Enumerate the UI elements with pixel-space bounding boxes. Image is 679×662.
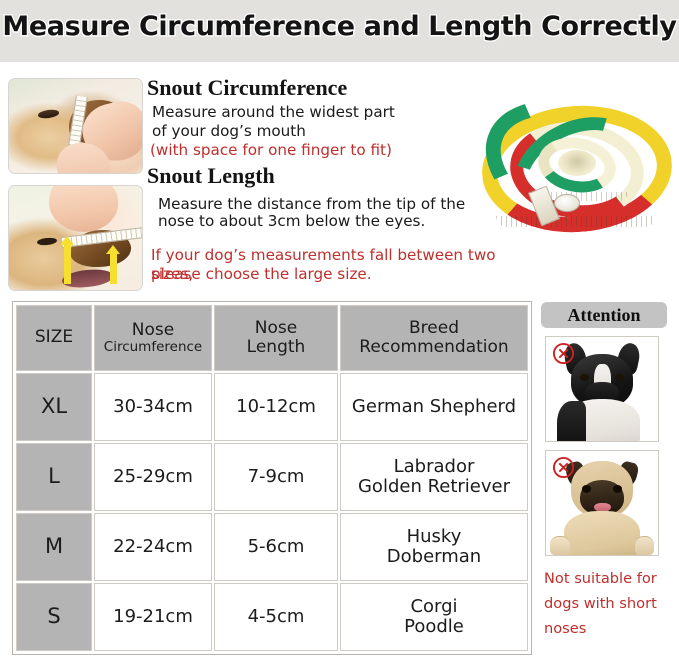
header-line-sub: Recommendation [359, 338, 508, 357]
breed-line-1: Husky [407, 527, 462, 547]
snout-length-photo [8, 185, 143, 291]
attention-badge-label: Attention [568, 305, 641, 326]
cell-nose-circumference: 25-29cm [94, 443, 212, 511]
circumference-line-2: of your dog’s mouth [152, 122, 306, 141]
tape-coil-core [558, 150, 596, 176]
dog-eye-right [613, 485, 622, 492]
cell-nose-length: 4-5cm [214, 583, 338, 651]
circumference-note-red: (with space for one finger to fit) [150, 141, 392, 160]
cell-nose-circumference: 30-34cm [94, 373, 212, 441]
dog-eye-right [615, 374, 624, 380]
cell-breed-recommendation: Husky Doberman [340, 513, 528, 581]
length-line-2: nose to about 3cm below the eyes. [158, 212, 425, 231]
dog-paw-right [635, 536, 654, 555]
heading-snout-length: Snout Length [147, 164, 275, 189]
dog-eye-left [580, 374, 589, 380]
size-chart-table: SIZE Nose Circumference Nose Length Bree… [12, 301, 532, 655]
tape-measure-illustration [482, 100, 672, 240]
snout-circumference-photo [8, 78, 143, 174]
cell-nose-circumference: 19-21cm [94, 583, 212, 651]
dog-shoulder [557, 401, 586, 442]
breed-line-2: Golden Retriever [358, 477, 510, 497]
header-line-sub: Circumference [104, 340, 202, 355]
breed-line-1: German Shepherd [352, 397, 516, 417]
table-header-row: SIZE Nose Circumference Nose Length Bree… [15, 304, 529, 372]
french-bulldog-warning-photo [545, 336, 659, 442]
attention-badge: Attention [541, 302, 667, 328]
photo-content [9, 186, 142, 290]
red-x-circle-icon [552, 456, 575, 479]
header-line-main: Breed [409, 319, 459, 338]
cell-breed-recommendation: German Shepherd [340, 373, 528, 441]
table-row: S 19-21cm 4-5cm Corgi Poodle [15, 582, 529, 652]
tape-brand-badge [554, 194, 580, 212]
header-line-main: Nose [255, 319, 297, 338]
cell-size: S [16, 583, 92, 651]
title-banner: Measure Circumference and Length Correct… [0, 0, 679, 62]
header-line-main: Nose [132, 321, 174, 340]
dog-paw-left [550, 536, 569, 555]
breed-line-1: Labrador [394, 457, 475, 477]
breed-line-1: Corgi [410, 597, 457, 617]
dog-eye-left [582, 485, 591, 492]
header-cell-breed-recommendation: Breed Recommendation [340, 305, 528, 371]
tape-tick-marks [496, 216, 656, 227]
page-title: Measure Circumference and Length Correct… [0, 11, 679, 42]
cell-size: L [16, 443, 92, 511]
header-cell-size: SIZE [16, 305, 92, 371]
heading-snout-circumference: Snout Circumference [147, 76, 347, 101]
header-line-sub: Length [247, 338, 306, 357]
cell-nose-circumference: 22-24cm [94, 513, 212, 581]
cell-size: XL [16, 373, 92, 441]
cell-breed-recommendation: Labrador Golden Retriever [340, 443, 528, 511]
table-row: L 25-29cm 7-9cm Labrador Golden Retrieve… [15, 442, 529, 512]
sizing-note-line-2: please choose the large size. [151, 265, 372, 284]
attention-panel: Attention Not suitable for dogs with [541, 302, 671, 641]
circumference-line-1: Measure around the widest part [152, 103, 395, 122]
breed-line-2: Doberman [387, 547, 481, 567]
breed-line-2: Poodle [404, 617, 464, 637]
header-cell-nose-length: Nose Length [214, 305, 338, 371]
attention-note-text: Not suitable for dogs with short noses [544, 566, 672, 641]
table-row: XL 30-34cm 10-12cm German Shepherd [15, 372, 529, 442]
cell-nose-length: 10-12cm [214, 373, 338, 441]
red-x-circle-icon [552, 342, 575, 365]
cell-nose-length: 5-6cm [214, 513, 338, 581]
yellow-arrow-icon [110, 253, 117, 284]
cell-size: M [16, 513, 92, 581]
photo-content [9, 79, 142, 173]
header-cell-nose-circumference: Nose Circumference [94, 305, 212, 371]
cell-breed-recommendation: Corgi Poodle [340, 583, 528, 651]
pug-warning-photo [545, 450, 659, 556]
yellow-arrow-icon [64, 244, 71, 284]
cell-nose-length: 7-9cm [214, 443, 338, 511]
table-row: M 22-24cm 5-6cm Husky Doberman [15, 512, 529, 582]
dog-body [564, 511, 640, 556]
